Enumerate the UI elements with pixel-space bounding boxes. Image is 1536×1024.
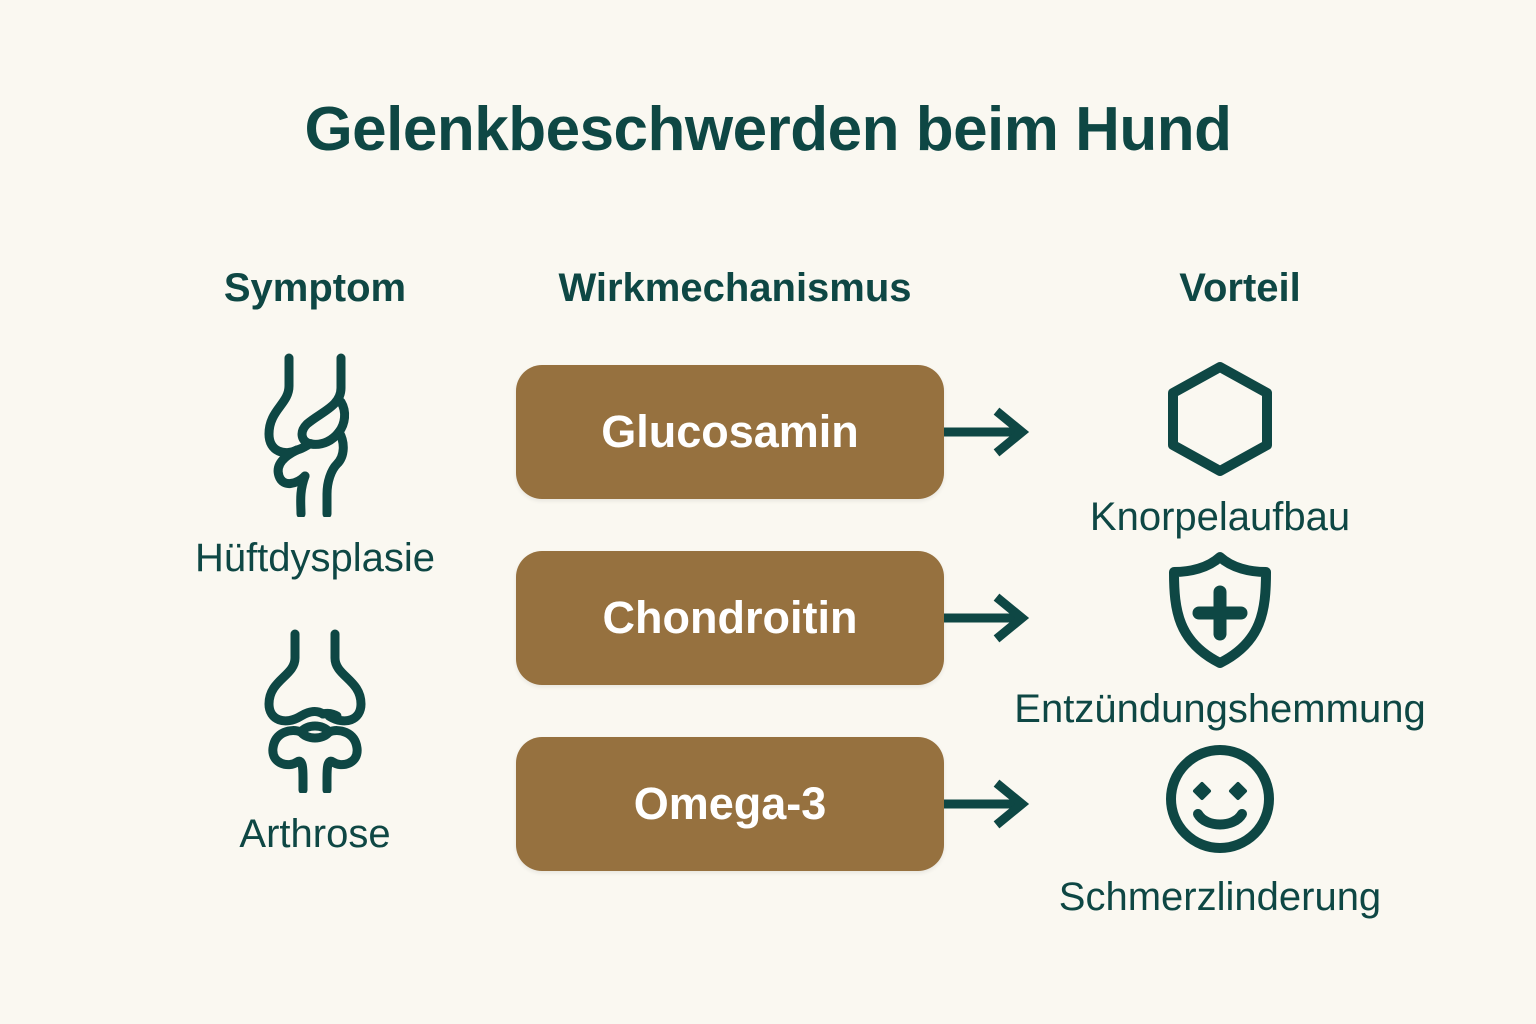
benefit-item-schmerzlinderung: Schmerzlinderung (990, 740, 1450, 919)
symptom-label: Arthrose (125, 812, 505, 856)
mechanism-box-chondroitin[interactable]: Chondroitin (516, 551, 944, 685)
shield-plus-icon (990, 550, 1450, 675)
symptom-label: Hüftdysplasie (125, 536, 505, 580)
symptom-item-huftdysplasie: Hüftdysplasie (125, 352, 505, 580)
benefit-item-entzuendungshemmung: Entzündungshemmung (990, 550, 1450, 731)
mechanism-label: Omega-3 (634, 779, 827, 829)
mechanism-label: Glucosamin (601, 407, 859, 457)
benefit-label: Schmerzlinderung (990, 875, 1450, 919)
infographic-canvas: Gelenkbeschwerden beim Hund Symptom Wirk… (0, 0, 1536, 1024)
hexagon-icon (990, 360, 1450, 483)
hip-joint-icon (125, 352, 505, 522)
symptom-item-arthrose: Arthrose (125, 628, 505, 856)
column-header-symptom: Symptom (125, 266, 505, 310)
benefit-label: Knorpelaufbau (990, 495, 1450, 539)
benefit-item-knorpelaufbau: Knorpelaufbau (990, 360, 1450, 539)
column-header-vorteil: Vorteil (1030, 266, 1450, 310)
mechanism-box-glucosamin[interactable]: Glucosamin (516, 365, 944, 499)
page-title: Gelenkbeschwerden beim Hund (0, 96, 1536, 164)
mechanism-label: Chondroitin (603, 593, 858, 643)
knee-joint-icon (125, 628, 505, 798)
mechanism-box-omega-3[interactable]: Omega-3 (516, 737, 944, 871)
benefit-label: Entzündungshemmung (990, 687, 1450, 731)
smiley-face-icon (990, 740, 1450, 863)
column-header-wirkmechanismus: Wirkmechanismus (490, 266, 980, 310)
